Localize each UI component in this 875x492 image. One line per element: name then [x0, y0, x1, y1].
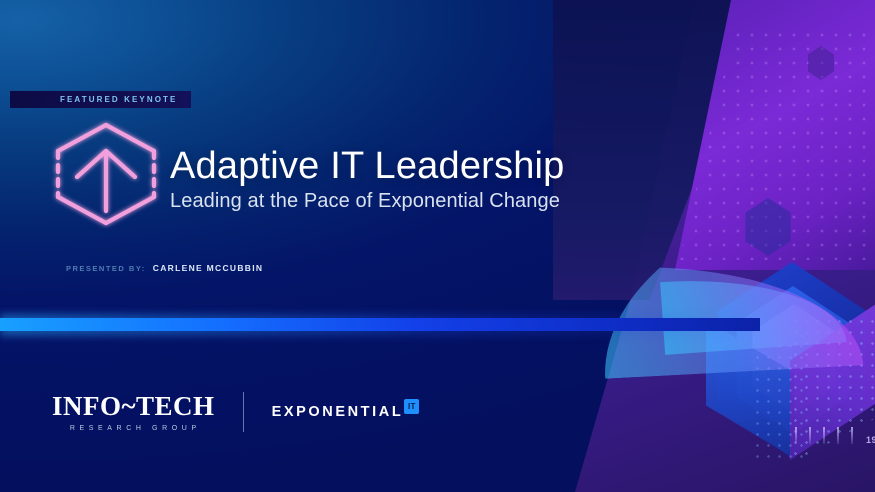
tick-mark — [795, 427, 797, 444]
tick-mark — [851, 427, 853, 444]
presenter-name: CARLENE MCCUBBIN — [153, 263, 264, 273]
exponential-it-logo: EXPONENTIAL IT — [272, 404, 420, 420]
featured-keynote-label: FEATURED KEYNOTE — [60, 95, 177, 104]
exponential-wordmark: EXPONENTIAL — [272, 404, 404, 420]
page-subtitle: Leading at the Pace of Exponential Chang… — [170, 190, 560, 213]
presented-by-label: PRESENTED BY: — [66, 264, 146, 273]
tick-marks-decoration — [795, 427, 853, 444]
tick-mark — [837, 427, 839, 444]
info-tech-logo: INFO~TECH RESEARCH GROUP — [52, 393, 215, 432]
tick-mark — [823, 427, 825, 444]
page-number: 19 — [866, 435, 875, 445]
featured-keynote-badge: FEATURED KEYNOTE — [10, 91, 191, 108]
brand-lockup: INFO~TECH RESEARCH GROUP EXPONENTIAL IT — [52, 392, 419, 432]
brand-divider — [243, 392, 244, 432]
exponential-it-badge-icon: IT — [404, 399, 419, 414]
hexagon-up-arrow-icon — [47, 118, 165, 230]
info-tech-tagline: RESEARCH GROUP — [66, 425, 201, 432]
accent-band — [0, 318, 760, 331]
tick-mark — [809, 427, 811, 444]
page-title: Adaptive IT Leadership — [170, 145, 565, 188]
presenter-line: PRESENTED BY: CARLENE MCCUBBIN — [66, 263, 263, 273]
presentation-slide: FEATURED KEYNOTE Adaptive IT Le — [0, 0, 875, 492]
info-tech-wordmark: INFO~TECH — [52, 393, 215, 420]
